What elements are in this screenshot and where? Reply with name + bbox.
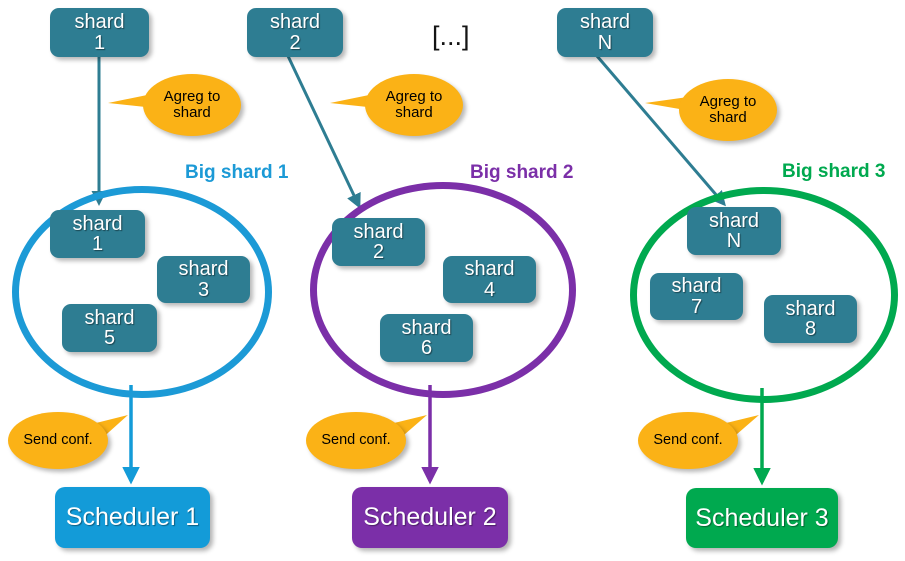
big-shard-1-label: Big shard 1 bbox=[185, 162, 288, 184]
diagram-canvas: shard 1 shard 2 shard N [...] Agreg to s… bbox=[0, 0, 905, 561]
callout-text: Agreg to shard bbox=[143, 74, 241, 136]
callout-line-1: Agreg to bbox=[386, 89, 443, 105]
callout-text: Agreg to shard bbox=[679, 79, 777, 141]
big-shard-1-member-3[interactable]: shard 5 bbox=[62, 304, 157, 352]
shard-box-top-1[interactable]: shard 1 bbox=[50, 8, 149, 57]
callout-send-conf-3[interactable]: Send conf. bbox=[638, 412, 738, 469]
scheduler-3-box[interactable]: Scheduler 3 bbox=[686, 488, 838, 548]
callout-send-conf-1[interactable]: Send conf. bbox=[8, 412, 108, 469]
callout-line-2: shard bbox=[395, 105, 433, 121]
shard-box-word: shard bbox=[72, 214, 122, 234]
shard-box-number: 2 bbox=[373, 242, 384, 262]
big-shard-2-member-1[interactable]: shard 2 bbox=[332, 218, 425, 266]
shard-box-word: shard bbox=[709, 211, 759, 231]
shard-box-number: 1 bbox=[94, 33, 105, 53]
shard-box-word: shard bbox=[178, 259, 228, 279]
big-shard-2-label: Big shard 2 bbox=[470, 162, 573, 184]
callout-line-1: Agreg to bbox=[164, 89, 221, 105]
callout-agreg-to-shard-2[interactable]: Agreg to shard bbox=[365, 74, 463, 136]
shard-box-word: shard bbox=[401, 318, 451, 338]
callout-text: Send conf. bbox=[638, 412, 738, 469]
callout-agreg-to-shard-1[interactable]: Agreg to shard bbox=[143, 74, 241, 136]
callout-text: Send conf. bbox=[8, 412, 108, 469]
big-shard-3-member-2[interactable]: shard 7 bbox=[650, 273, 743, 320]
big-shard-3-label: Big shard 3 bbox=[782, 161, 885, 183]
shard-box-number: 8 bbox=[805, 319, 816, 339]
scheduler-2-box[interactable]: Scheduler 2 bbox=[352, 487, 508, 548]
shard-box-number: 6 bbox=[421, 338, 432, 358]
scheduler-1-box[interactable]: Scheduler 1 bbox=[55, 487, 210, 548]
shard-box-word: shard bbox=[464, 259, 514, 279]
shard-box-number: 5 bbox=[104, 328, 115, 348]
shard-box-word: shard bbox=[580, 12, 630, 32]
arrow-shard2-to-bigshard2 bbox=[288, 56, 359, 206]
shard-box-top-3[interactable]: shard N bbox=[557, 8, 653, 57]
shard-box-word: shard bbox=[74, 12, 124, 32]
shard-box-number: 2 bbox=[289, 33, 300, 53]
callout-line-1: Send conf. bbox=[23, 433, 92, 449]
callout-line-2: shard bbox=[709, 110, 747, 126]
callout-text: Send conf. bbox=[306, 412, 406, 469]
shard-box-number: N bbox=[598, 33, 612, 53]
scheduler-1-label: Scheduler 1 bbox=[66, 503, 199, 532]
scheduler-3-label: Scheduler 3 bbox=[695, 504, 828, 533]
ellipsis-marker: [...] bbox=[432, 21, 470, 52]
callout-line-2: shard bbox=[173, 105, 211, 121]
big-shard-1-member-1[interactable]: shard 1 bbox=[50, 210, 145, 258]
scheduler-2-label: Scheduler 2 bbox=[363, 503, 496, 532]
callout-line-1: Send conf. bbox=[653, 433, 722, 449]
big-shard-2-member-2[interactable]: shard 4 bbox=[443, 256, 536, 303]
shard-box-word: shard bbox=[785, 299, 835, 319]
shard-box-number: 3 bbox=[198, 280, 209, 300]
callout-line-1: Agreg to bbox=[700, 94, 757, 110]
shard-box-number: N bbox=[727, 231, 741, 251]
shard-box-number: 7 bbox=[691, 297, 702, 317]
shard-box-top-2[interactable]: shard 2 bbox=[247, 8, 343, 57]
shard-box-word: shard bbox=[671, 276, 721, 296]
callout-line-1: Send conf. bbox=[321, 433, 390, 449]
shard-box-word: shard bbox=[84, 308, 134, 328]
big-shard-1-member-2[interactable]: shard 3 bbox=[157, 256, 250, 303]
big-shard-3-member-1[interactable]: shard N bbox=[687, 207, 781, 255]
shard-box-number: 4 bbox=[484, 280, 495, 300]
callout-text: Agreg to shard bbox=[365, 74, 463, 136]
big-shard-2-member-3[interactable]: shard 6 bbox=[380, 314, 473, 362]
shard-box-word: shard bbox=[353, 222, 403, 242]
shard-box-number: 1 bbox=[92, 234, 103, 254]
shard-box-word: shard bbox=[270, 12, 320, 32]
callout-agreg-to-shard-3[interactable]: Agreg to shard bbox=[679, 79, 777, 141]
big-shard-3-member-3[interactable]: shard 8 bbox=[764, 295, 857, 343]
callout-send-conf-2[interactable]: Send conf. bbox=[306, 412, 406, 469]
